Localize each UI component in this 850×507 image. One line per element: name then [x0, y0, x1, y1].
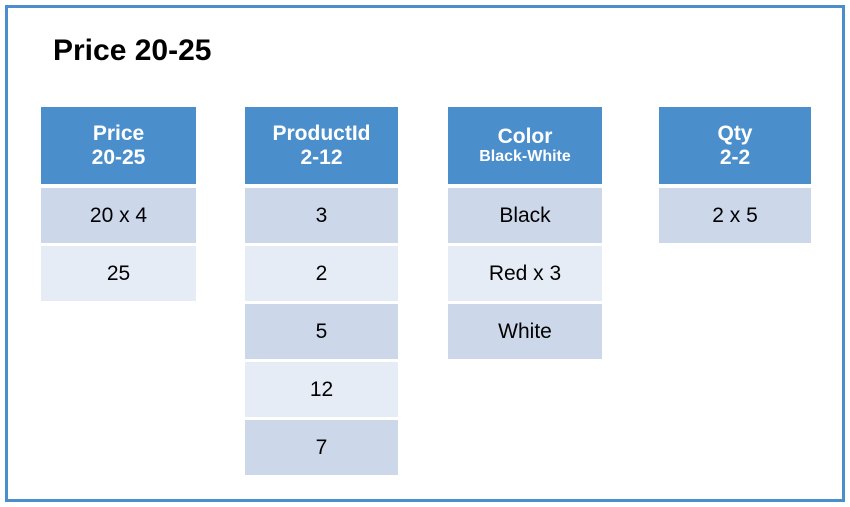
cell[interactable]: 3 — [245, 188, 398, 243]
cell[interactable]: 12 — [245, 362, 398, 417]
column-header-title-productid: ProductId — [273, 122, 371, 146]
column-header-range-color: Black-White — [479, 148, 571, 166]
page-title: Price 20-25 — [53, 34, 211, 68]
column-header-title-price: Price — [93, 122, 144, 146]
column-header-qty[interactable]: Qty2-2 — [659, 107, 811, 184]
column-header-title-color: Color — [498, 125, 553, 149]
column-group: Price20-2520 x 425ProductId2-12325127Col… — [41, 107, 821, 487]
column-header-title-qty: Qty — [717, 122, 752, 146]
column-header-range-qty: 2-2 — [720, 146, 750, 170]
cell[interactable]: 7 — [245, 420, 398, 475]
cell[interactable]: 2 x 5 — [659, 188, 811, 243]
cell[interactable]: 2 — [245, 246, 398, 301]
cell[interactable]: 5 — [245, 304, 398, 359]
cell[interactable]: 25 — [41, 246, 196, 301]
cell[interactable]: Red x 3 — [448, 246, 602, 301]
cell[interactable]: White — [448, 304, 602, 359]
column-header-range-price: 20-25 — [92, 146, 146, 170]
column-header-range-productid: 2-12 — [300, 146, 342, 170]
column-color: ColorBlack-WhiteBlackRed x 3White — [448, 107, 602, 362]
column-header-price[interactable]: Price20-25 — [41, 107, 196, 184]
screenshot-canvas: Price 20-25 Price20-2520 x 425ProductId2… — [0, 0, 850, 507]
column-price: Price20-2520 x 425 — [41, 107, 196, 304]
cell[interactable]: Black — [448, 188, 602, 243]
column-header-color[interactable]: ColorBlack-White — [448, 107, 602, 184]
column-header-productid[interactable]: ProductId2-12 — [245, 107, 398, 184]
cell[interactable]: 20 x 4 — [41, 188, 196, 243]
column-qty: Qty2-22 x 5 — [659, 107, 811, 246]
slide-frame: Price 20-25 Price20-2520 x 425ProductId2… — [5, 5, 845, 502]
column-productid: ProductId2-12325127 — [245, 107, 398, 478]
